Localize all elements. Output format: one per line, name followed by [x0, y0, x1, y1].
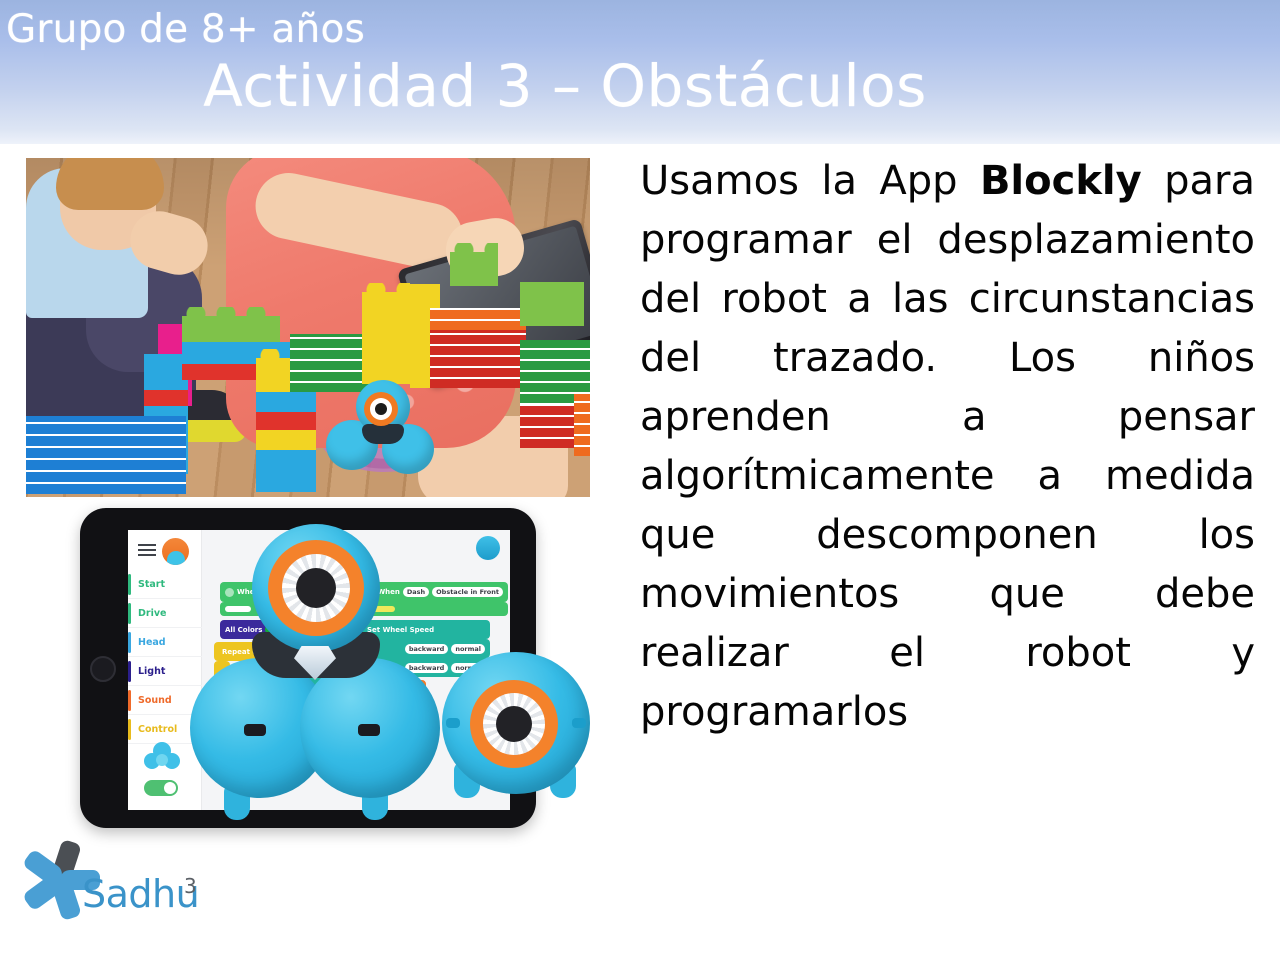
- dash-eye-pupil: [375, 403, 387, 415]
- block-red-lego-2: [256, 412, 316, 430]
- brick-wall-orange: [430, 308, 526, 330]
- dash-robot: [190, 612, 440, 862]
- sidebar-item-label: Control: [138, 724, 177, 735]
- block-red-stripe: [144, 390, 188, 406]
- photo-children-obstacle-course: [26, 158, 590, 497]
- block-label: When: [377, 588, 399, 596]
- dot-side-right: [572, 718, 586, 728]
- block-green-lego: [182, 316, 280, 342]
- dot-robot: [442, 652, 590, 810]
- app-name-bold: Blockly: [980, 158, 1142, 204]
- sidebar-item-label: Head: [138, 637, 166, 648]
- dash-eye-pupil-2: [296, 568, 336, 608]
- dash-robot-in-photo: [326, 380, 436, 476]
- body-paragraph: Usamos la App Blockly para programar el …: [640, 152, 1255, 742]
- robot-avatar-icon[interactable]: [476, 536, 500, 560]
- boy-hair: [56, 158, 164, 210]
- sidebar-item-label: Drive: [138, 608, 166, 619]
- block-yellow-tall: [362, 292, 410, 384]
- avatar[interactable]: [162, 538, 189, 565]
- sidebar-header: [128, 530, 202, 570]
- paragraph-lead: Usamos la App: [640, 158, 980, 204]
- dash-wheel-slot-left: [244, 724, 266, 736]
- dash-chest: [362, 424, 404, 444]
- block-pill[interactable]: Obstacle in Front: [432, 587, 503, 597]
- block-when-obstacle[interactable]: When Dash Obstacle in Front: [368, 582, 508, 602]
- block-blue-lego-3: [256, 450, 316, 492]
- slide-header: Grupo de 8+ años Actividad 3 – Obstáculo…: [0, 0, 1280, 144]
- sidebar-item-label: Sound: [138, 695, 172, 706]
- sidebar-item-label: Start: [138, 579, 165, 590]
- block-green-top: [450, 252, 498, 286]
- tablet-home-button[interactable]: [90, 656, 116, 682]
- header-kicker: Grupo de 8+ años: [6, 7, 365, 52]
- block-pill[interactable]: Dash: [403, 587, 429, 597]
- paragraph-rest: para programar el desplazamiento del rob…: [640, 158, 1255, 735]
- logo-superscript: 3: [184, 874, 197, 898]
- logo-text: Sadhu: [82, 872, 199, 916]
- dot-eye-pupil: [496, 706, 532, 742]
- dot-side-left: [446, 718, 460, 728]
- brick-wall-blue: [26, 416, 186, 494]
- sidebar-item-start[interactable]: Start: [128, 570, 202, 599]
- sidebar-item-label: Light: [138, 666, 165, 677]
- brick-wall-orange-2: [574, 394, 590, 456]
- block-green-right: [520, 282, 584, 326]
- logo: Sadhu 3: [12, 836, 252, 940]
- menu-icon[interactable]: [138, 544, 156, 557]
- block-blue-lego-2: [256, 392, 316, 412]
- block-yellow-lego-2: [256, 430, 316, 450]
- page-title: Actividad 3 – Obstáculos: [0, 52, 1280, 120]
- robot-icon[interactable]: [144, 742, 180, 774]
- connection-toggle[interactable]: [144, 780, 178, 796]
- brick-wall-red: [430, 324, 526, 388]
- dash-wheel-slot-right: [358, 724, 380, 736]
